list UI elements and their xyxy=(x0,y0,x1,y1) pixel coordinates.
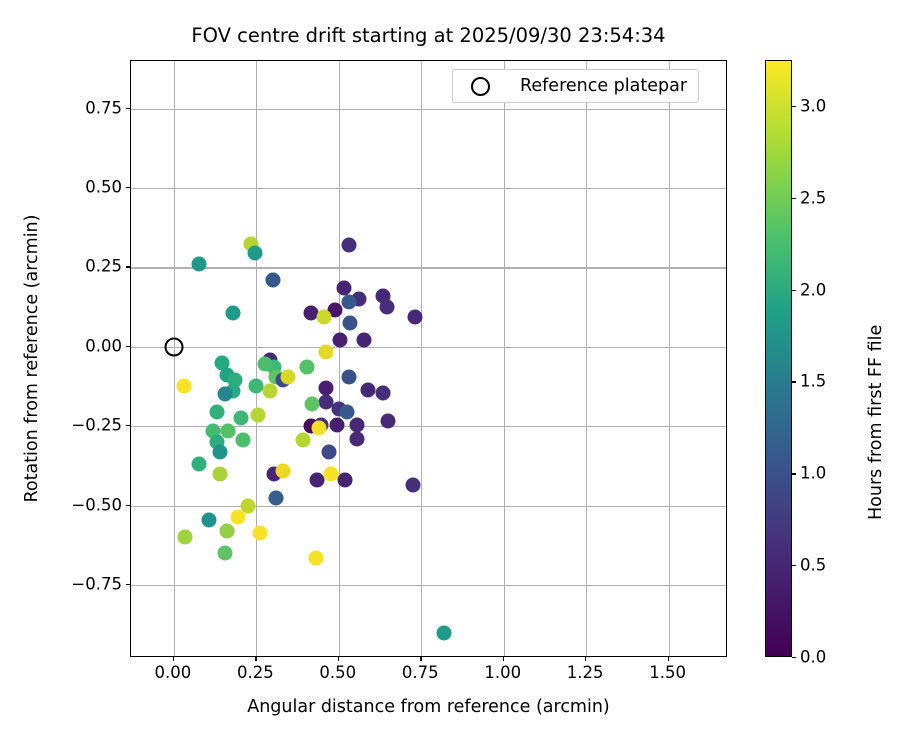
gridline-vertical xyxy=(586,61,587,656)
gridline-vertical xyxy=(669,61,670,656)
x-axis-tick xyxy=(585,657,586,661)
colorbar-label: Hours from first FF file xyxy=(866,325,886,520)
y-axis-tick-label: −0.75 xyxy=(71,574,122,593)
y-axis-tick-label: −0.25 xyxy=(71,416,122,435)
plot-area xyxy=(131,61,726,656)
scatter-point xyxy=(176,379,191,394)
y-axis-tick-label: 0.00 xyxy=(85,336,122,355)
gridline-vertical xyxy=(256,61,257,656)
scatter-point xyxy=(191,257,206,272)
scatter-point xyxy=(330,417,345,432)
scatter-point xyxy=(265,273,280,288)
scatter-point xyxy=(407,309,422,324)
x-axis-tick xyxy=(503,657,504,661)
scatter-point xyxy=(323,466,338,481)
legend-box: Reference platepar xyxy=(452,69,699,103)
scatter-point xyxy=(201,512,216,527)
scatter-point xyxy=(318,381,333,396)
colorbar-tick-label: 2.0 xyxy=(800,280,826,299)
colorbar-tick xyxy=(792,473,796,474)
colorbar-tick-label: 0.5 xyxy=(800,556,826,575)
gridline-horizontal xyxy=(131,506,726,507)
gridline-vertical xyxy=(339,61,340,656)
x-axis-tick-label: 0.75 xyxy=(402,663,439,682)
scatter-point xyxy=(257,357,272,372)
colorbar-tick-label: 1.0 xyxy=(800,464,826,483)
gridline-horizontal xyxy=(131,585,726,586)
scatter-point xyxy=(333,333,348,348)
scatter-point xyxy=(219,523,234,538)
y-axis-tick-label: −0.50 xyxy=(71,495,122,514)
scatter-point xyxy=(178,530,193,545)
x-axis-tick-label: 0.50 xyxy=(319,663,356,682)
scatter-point xyxy=(213,466,228,481)
scatter-point xyxy=(318,344,333,359)
scatter-point xyxy=(218,387,233,402)
scatter-point xyxy=(336,281,351,296)
y-axis-tick-label: 0.25 xyxy=(85,257,122,276)
x-axis-tick-label: 0.00 xyxy=(155,663,192,682)
colorbar-tick xyxy=(792,198,796,199)
scatter-point xyxy=(191,457,206,472)
scatter-point xyxy=(376,385,391,400)
y-axis-tick xyxy=(126,266,130,267)
scatter-point xyxy=(252,525,267,540)
scatter-point xyxy=(349,417,364,432)
colorbar-tick-label: 3.0 xyxy=(800,96,826,115)
y-axis-label: Rotation from reference (arcmin) xyxy=(22,60,42,657)
y-axis-tick-label: 0.50 xyxy=(85,178,122,197)
x-axis-tick xyxy=(255,657,256,661)
scatter-point xyxy=(381,414,396,429)
scatter-point xyxy=(343,315,358,330)
scatter-point xyxy=(338,473,353,488)
scatter-point xyxy=(437,625,452,640)
x-axis-tick-label: 1.00 xyxy=(484,663,521,682)
colorbar-tick xyxy=(792,290,796,291)
scatter-point xyxy=(250,408,265,423)
scatter-point xyxy=(341,369,356,384)
scatter-point xyxy=(295,433,310,448)
scatter-point xyxy=(316,309,331,324)
scatter-point xyxy=(236,433,251,448)
scatter-point xyxy=(218,546,233,561)
colorbar xyxy=(765,60,792,657)
scatter-point xyxy=(379,300,394,315)
figure-canvas: FOV centre drift starting at 2025/09/30 … xyxy=(0,0,900,750)
y-axis-tick xyxy=(126,505,130,506)
colorbar-tick xyxy=(792,565,796,566)
scatter-point xyxy=(275,463,290,478)
gridline-horizontal xyxy=(131,267,726,268)
colorbar-tick-label: 0.0 xyxy=(800,648,826,667)
colorbar-tick-label: 1.5 xyxy=(800,372,826,391)
x-axis-tick xyxy=(420,657,421,661)
scatter-point xyxy=(226,306,241,321)
y-axis-tick xyxy=(126,187,130,188)
x-axis-label: Angular distance from reference (arcmin) xyxy=(130,697,727,717)
page-title: FOV centre drift starting at 2025/09/30 … xyxy=(130,24,727,47)
gridline-vertical xyxy=(174,61,175,656)
scatter-point xyxy=(321,444,336,459)
x-axis-tick xyxy=(338,657,339,661)
scatter-point xyxy=(231,509,246,524)
scatter-point xyxy=(341,295,356,310)
x-axis-tick xyxy=(668,657,669,661)
scatter-point xyxy=(209,404,224,419)
y-axis-tick xyxy=(126,584,130,585)
gridline-horizontal xyxy=(131,109,726,110)
colorbar-tick xyxy=(792,106,796,107)
y-axis-tick xyxy=(126,346,130,347)
scatter-point xyxy=(341,238,356,253)
scatter-point xyxy=(280,369,295,384)
x-axis-tick xyxy=(173,657,174,661)
x-axis-tick-label: 1.25 xyxy=(567,663,604,682)
scatter-point xyxy=(356,333,371,348)
gridline-vertical xyxy=(504,61,505,656)
gridline-horizontal xyxy=(131,347,726,348)
y-axis-tick xyxy=(126,425,130,426)
plot-axes xyxy=(130,60,727,657)
gridline-horizontal xyxy=(131,188,726,189)
y-axis-tick-label: 0.75 xyxy=(85,98,122,117)
reference-platepar-marker-icon xyxy=(164,337,183,356)
legend-item-label: Reference platepar xyxy=(520,76,687,96)
scatter-point xyxy=(269,490,284,505)
scatter-point xyxy=(221,423,236,438)
scatter-point xyxy=(406,477,421,492)
scatter-point xyxy=(349,431,364,446)
gridline-vertical xyxy=(421,61,422,656)
scatter-point xyxy=(213,444,228,459)
scatter-point xyxy=(312,420,327,435)
colorbar-tick xyxy=(792,657,796,658)
x-axis-tick-label: 0.25 xyxy=(237,663,274,682)
scatter-point xyxy=(308,550,323,565)
colorbar-tick xyxy=(792,381,796,382)
scatter-point xyxy=(247,246,262,261)
scatter-point xyxy=(305,396,320,411)
scatter-point xyxy=(300,360,315,375)
x-axis-tick-label: 1.50 xyxy=(649,663,686,682)
colorbar-tick-label: 2.5 xyxy=(800,188,826,207)
reference-platepar-marker-icon xyxy=(471,77,490,96)
scatter-point xyxy=(310,473,325,488)
scatter-point xyxy=(361,382,376,397)
scatter-point xyxy=(262,384,277,399)
scatter-point xyxy=(234,411,249,426)
y-axis-tick xyxy=(126,108,130,109)
